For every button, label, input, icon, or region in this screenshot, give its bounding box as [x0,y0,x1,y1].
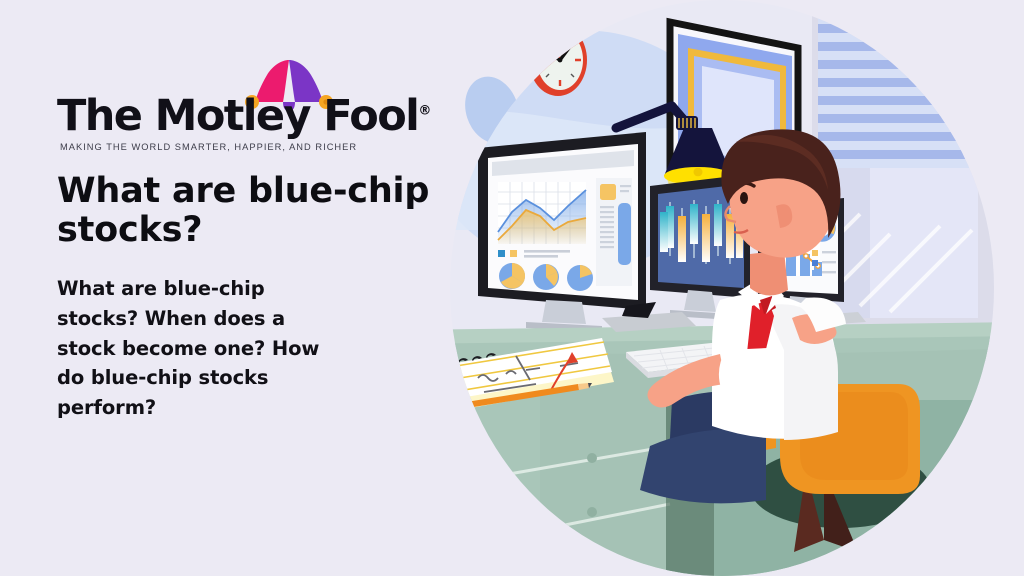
text-column: The Motley Fool® MAKING THE WORLD SMARTE… [57,55,447,423]
left-monitor-stand [542,300,586,324]
left-monitor-report-panel [596,178,632,286]
page-title: What are blue-chip stocks? [57,172,432,250]
card-canvas: The Motley Fool® MAKING THE WORLD SMARTE… [0,0,1024,576]
window-blinds [818,0,978,168]
logo-wordmark: The Motley Fool® [57,95,430,138]
brand-tagline: MAKING THE WORLD SMARTER, HAPPIER, AND R… [60,142,357,152]
left-monitor-area-chart [498,182,586,244]
office-scene-svg [420,0,1024,576]
left-monitor-pie-charts [499,263,593,291]
legend-swatch-blue [498,250,505,257]
center-monitor-stand [684,290,716,312]
hero-illustration [420,0,1024,576]
brand-logo[interactable]: The Motley Fool® MAKING THE WORLD SMARTE… [57,55,357,160]
legend-swatch-orange [510,250,517,257]
page-description: What are blue-chip stocks? When does a s… [57,274,347,422]
wall-clock [529,24,587,96]
logo-wordmark-text: The Motley Fool [57,91,418,141]
scene-clip-group [420,0,1024,576]
